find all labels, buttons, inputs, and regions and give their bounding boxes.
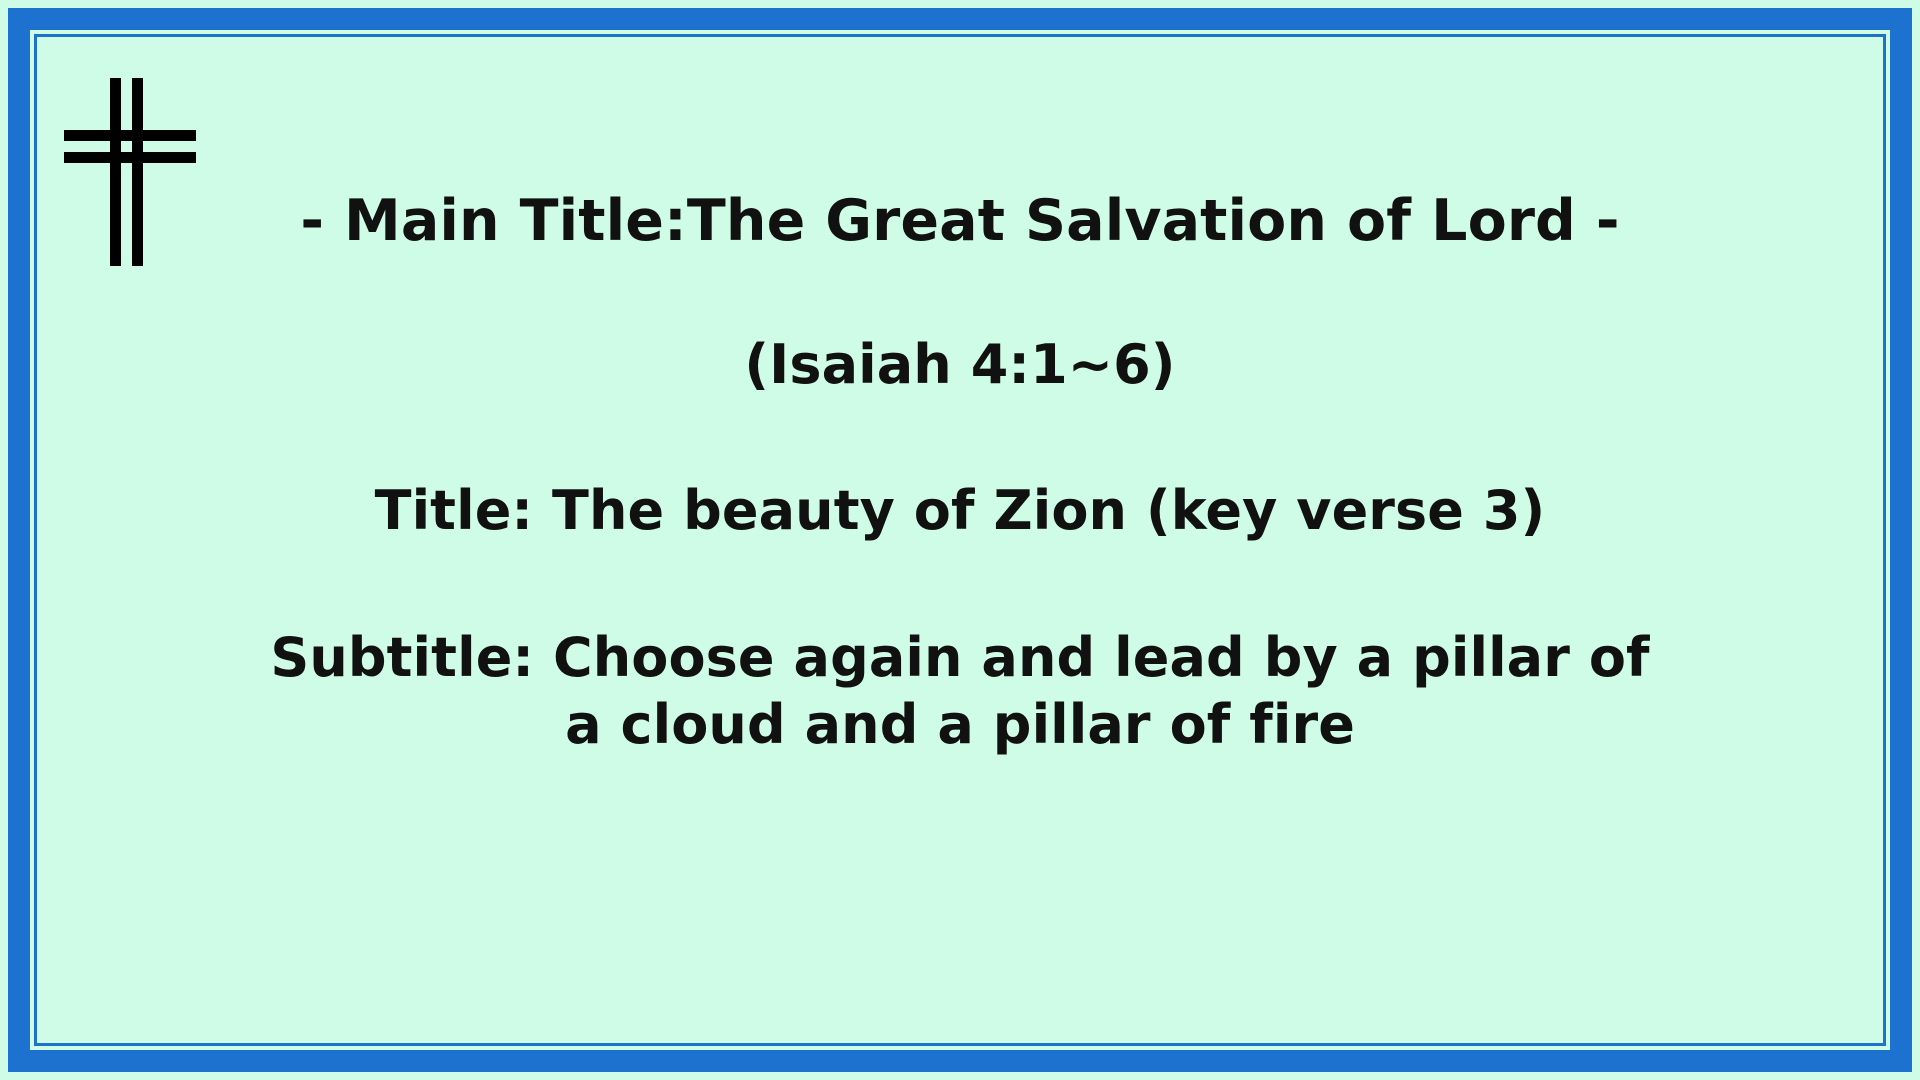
- presentation-slide: - Main Title:The Great Salvation of Lord…: [0, 0, 1920, 1080]
- slide-text-content: - Main Title:The Great Salvation of Lord…: [120, 150, 1800, 759]
- subtitle: Subtitle: Choose again and lead by a pil…: [260, 543, 1660, 759]
- scripture-reference: (Isaiah 4:1~6): [120, 255, 1800, 397]
- cross-horizontal-stroke-top: [64, 130, 196, 141]
- cross-notch-horizontal-left: [64, 141, 110, 152]
- main-title: - Main Title:The Great Salvation of Lord…: [120, 150, 1800, 255]
- cross-notch-vertical-top: [121, 78, 132, 130]
- section-title: Title: The beauty of Zion (key verse 3): [120, 397, 1800, 543]
